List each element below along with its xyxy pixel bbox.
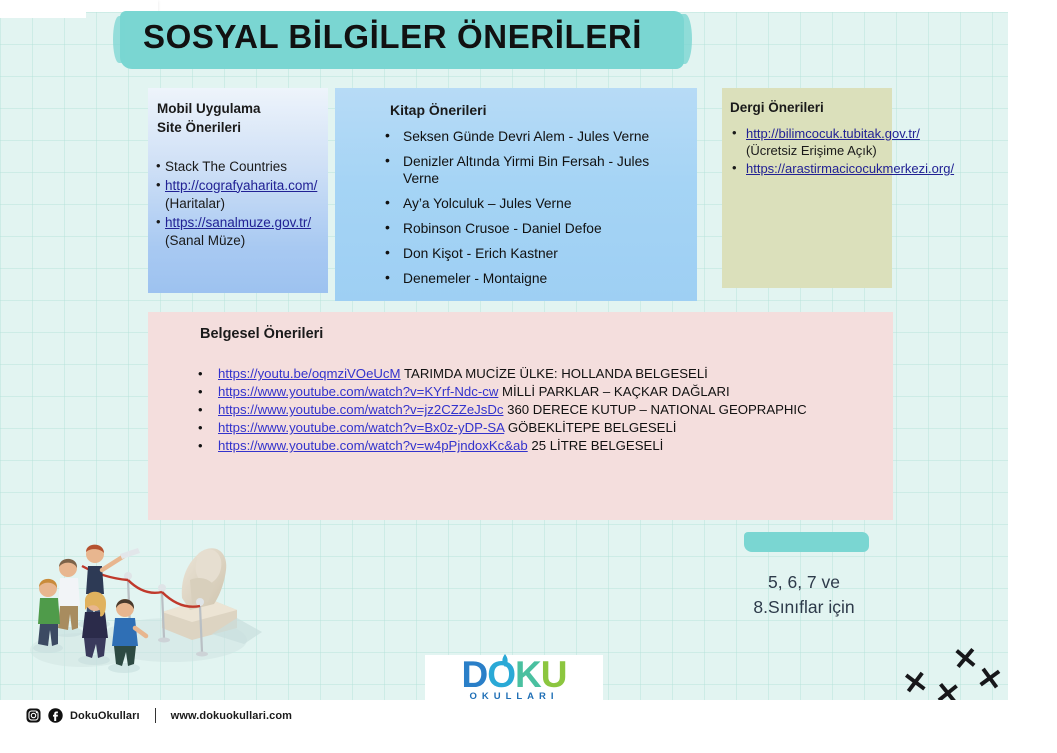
- mobile-app-item-0-text: Stack The Countries: [165, 159, 287, 174]
- magazine-recommendations-card: Dergi Önerileri http://bilimcocuk.tubita…: [722, 88, 892, 288]
- list-item: https://www.youtube.com/watch?v=KYrf-Ndc…: [196, 383, 875, 401]
- x-mark-icon: ✕: [901, 667, 930, 700]
- documentary-desc-2: 360 DERECE KUTUP – NATIONAL GEOPRAPHIC: [503, 402, 806, 417]
- x-mark-icon: ✕: [975, 663, 1005, 697]
- list-item: https://arastirmacicocukmerkezi.org/: [730, 161, 886, 178]
- facebook-icon[interactable]: [48, 708, 63, 723]
- mobile-app-item-1-suffix: (Haritalar): [165, 196, 225, 211]
- documentary-desc-4: 25 LİTRE BELGESELİ: [528, 438, 664, 453]
- list-item: https://youtu.be/oqmziVOeUcM TARIMDA MUC…: [196, 365, 875, 383]
- logo-letter-k: K: [515, 654, 541, 695]
- list-item: https://www.youtube.com/watch?v=w4pPjndo…: [196, 437, 875, 455]
- mobile-app-title-line2: Site Önerileri: [157, 118, 328, 137]
- book-recommendations-card: Kitap Önerileri Seksen Günde Devri Alem …: [335, 88, 697, 301]
- list-item: Seksen Günde Devri Alem - Jules Verne: [383, 128, 679, 145]
- mobile-app-card: Mobil Uygulama Site Önerileri Stack The …: [148, 88, 328, 293]
- logo-letter-u: U: [541, 654, 567, 695]
- list-item: https://www.youtube.com/watch?v=jz2CZZeJ…: [196, 401, 875, 419]
- mobile-app-title-line1: Mobil Uygulama: [157, 99, 328, 118]
- magazine-link-1[interactable]: https://arastirmacicocukmerkezi.org/: [746, 161, 954, 176]
- documentary-link-2[interactable]: https://www.youtube.com/watch?v=jz2CZZeJ…: [218, 402, 503, 417]
- footer-bar: DokuOkulları www.dokuokullari.com: [0, 700, 1057, 753]
- list-item: Robinson Crusoe - Daniel Defoe: [383, 220, 679, 237]
- list-item: http://cografyaharita.com/ (Haritalar): [156, 177, 320, 214]
- documentary-desc-0: TARIMDA MUCİZE ÜLKE: HOLLANDA BELGESELİ: [401, 366, 708, 381]
- grade-level-text: 5, 6, 7 ve 8.Sınıflar için: [725, 570, 883, 620]
- grade-brush-stroke: [744, 532, 869, 552]
- mobile-app-list: Stack The Countries http://cografyaharit…: [148, 158, 328, 251]
- footer-content: DokuOkulları www.dokuokullari.com: [26, 708, 292, 723]
- grade-line-1: 5, 6, 7 ve: [725, 570, 883, 595]
- documentary-link-1[interactable]: https://www.youtube.com/watch?v=KYrf-Ndc…: [218, 384, 498, 399]
- book-list: Seksen Günde Devri Alem - Jules Verne De…: [335, 128, 697, 287]
- canvas-corner-mask: [0, 0, 86, 18]
- footer-divider: [155, 708, 156, 723]
- x-marks-decoration: ✕ ✕ ✕ ✕: [895, 643, 1005, 703]
- documentary-link-4[interactable]: https://www.youtube.com/watch?v=w4pPjndo…: [218, 438, 528, 453]
- poster-page: SOSYAL BİLGİLER ÖNERİLERİ Mobil Uygulama…: [0, 0, 1057, 753]
- list-item: http://bilimcocuk.tubitak.gov.tr/ (Ücret…: [730, 126, 886, 159]
- list-item: Denemeler - Montaigne: [383, 270, 679, 287]
- x-mark-icon: ✕: [952, 644, 980, 676]
- list-item: Don Kişot - Erich Kastner: [383, 245, 679, 262]
- documentary-list: https://youtu.be/oqmziVOeUcM TARIMDA MUC…: [148, 365, 893, 455]
- documentary-link-0[interactable]: https://youtu.be/oqmziVOeUcM: [218, 366, 401, 381]
- book-card-title: Kitap Önerileri: [335, 88, 697, 118]
- footer-website-url[interactable]: www.dokuokullari.com: [171, 710, 292, 722]
- list-item: Denizler Altında Yirmi Bin Fersah - Jule…: [383, 153, 679, 187]
- documentary-card-title: Belgesel Önerileri: [148, 312, 893, 342]
- list-item: https://www.youtube.com/watch?v=Bx0z-yDP…: [196, 419, 875, 437]
- museum-visit-illustration: [22, 520, 262, 685]
- magazine-list: http://bilimcocuk.tubitak.gov.tr/ (Ücret…: [722, 126, 892, 178]
- leaf-droplet-icon: [495, 653, 515, 669]
- documentary-link-3[interactable]: https://www.youtube.com/watch?v=Bx0z-yDP…: [218, 420, 504, 435]
- list-item: https://sanalmuze.gov.tr/ (Sanal Müze): [156, 214, 320, 251]
- documentary-desc-1: MİLLİ PARKLAR – KAÇKAR DAĞLARI: [498, 384, 729, 399]
- magazine-link-0[interactable]: http://bilimcocuk.tubitak.gov.tr/: [746, 126, 920, 141]
- documentary-recommendations-card: Belgesel Önerileri https://youtu.be/oqmz…: [148, 312, 893, 520]
- mobile-app-link-1[interactable]: http://cografyaharita.com/: [165, 178, 317, 193]
- instagram-icon[interactable]: [26, 708, 41, 723]
- grade-line-2: 8.Sınıflar için: [725, 595, 883, 620]
- mobile-app-item-2-suffix: (Sanal Müze): [165, 233, 245, 248]
- footer-brand-name: DokuOkulları: [70, 710, 140, 722]
- mobile-app-link-2[interactable]: https://sanalmuze.gov.tr/: [165, 215, 311, 230]
- list-item: Ay’a Yolculuk – Jules Verne: [383, 195, 679, 212]
- mobile-app-card-title: Mobil Uygulama Site Önerileri: [148, 88, 328, 137]
- logo-letter-d: D: [462, 654, 488, 695]
- list-item: Stack The Countries: [156, 158, 320, 177]
- magazine-item-0-suffix: (Ücretsiz Erişime Açık): [746, 143, 877, 158]
- documentary-desc-3: GÖBEKLİTEPE BELGESELİ: [504, 420, 676, 435]
- page-title: SOSYAL BİLGİLER ÖNERİLERİ: [143, 18, 683, 56]
- magazine-card-title: Dergi Önerileri: [722, 88, 892, 115]
